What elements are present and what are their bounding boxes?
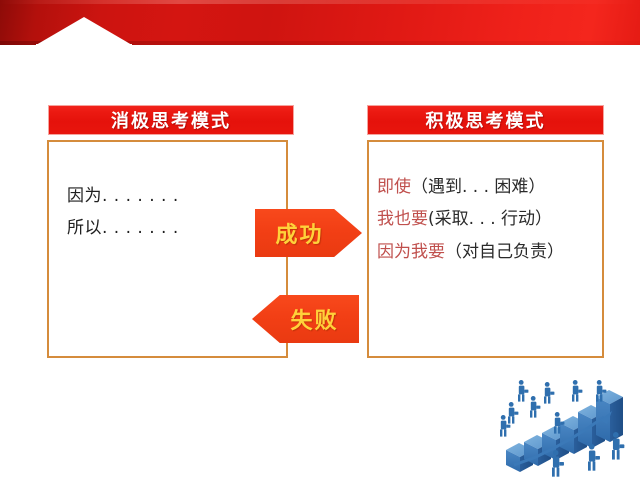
- right-line-2-rest: (采取. . . 行动）: [428, 209, 552, 229]
- left-text-line-2: 所以. . . . . . .: [67, 213, 179, 238]
- right-line-3-rest: （对自己负责）: [445, 242, 564, 262]
- left-text-line-1: 因为. . . . . . .: [67, 181, 179, 206]
- right-text-line-2: 我也要(采取. . . 行动）: [377, 204, 552, 229]
- growth-bar-chart-illustration: [488, 372, 636, 480]
- left-content-box: [47, 140, 288, 358]
- right-line-1-rest: （遇到. . . 困难）: [411, 177, 545, 197]
- right-line-1-accent: 即使: [377, 177, 411, 197]
- right-text-line-3: 因为我要（对自己负责）: [377, 237, 564, 262]
- left-column-header: 消极思考模式: [48, 105, 294, 135]
- top-banner-notch-base: [36, 44, 132, 47]
- right-text-line-1: 即使（遇到. . . 困难）: [377, 172, 545, 197]
- right-line-3-accent: 因为我要: [377, 242, 445, 262]
- slide-canvas: 消极思考模式 因为. . . . . . . 所以. . . . . . . 积…: [0, 0, 640, 482]
- top-banner-triangle-notch: [36, 17, 132, 45]
- right-column-header: 积极思考模式: [367, 105, 604, 135]
- top-banner-sheen: [0, 0, 640, 4]
- right-line-2-accent: 我也要: [377, 209, 428, 229]
- success-arrow-right: 成功: [255, 209, 362, 257]
